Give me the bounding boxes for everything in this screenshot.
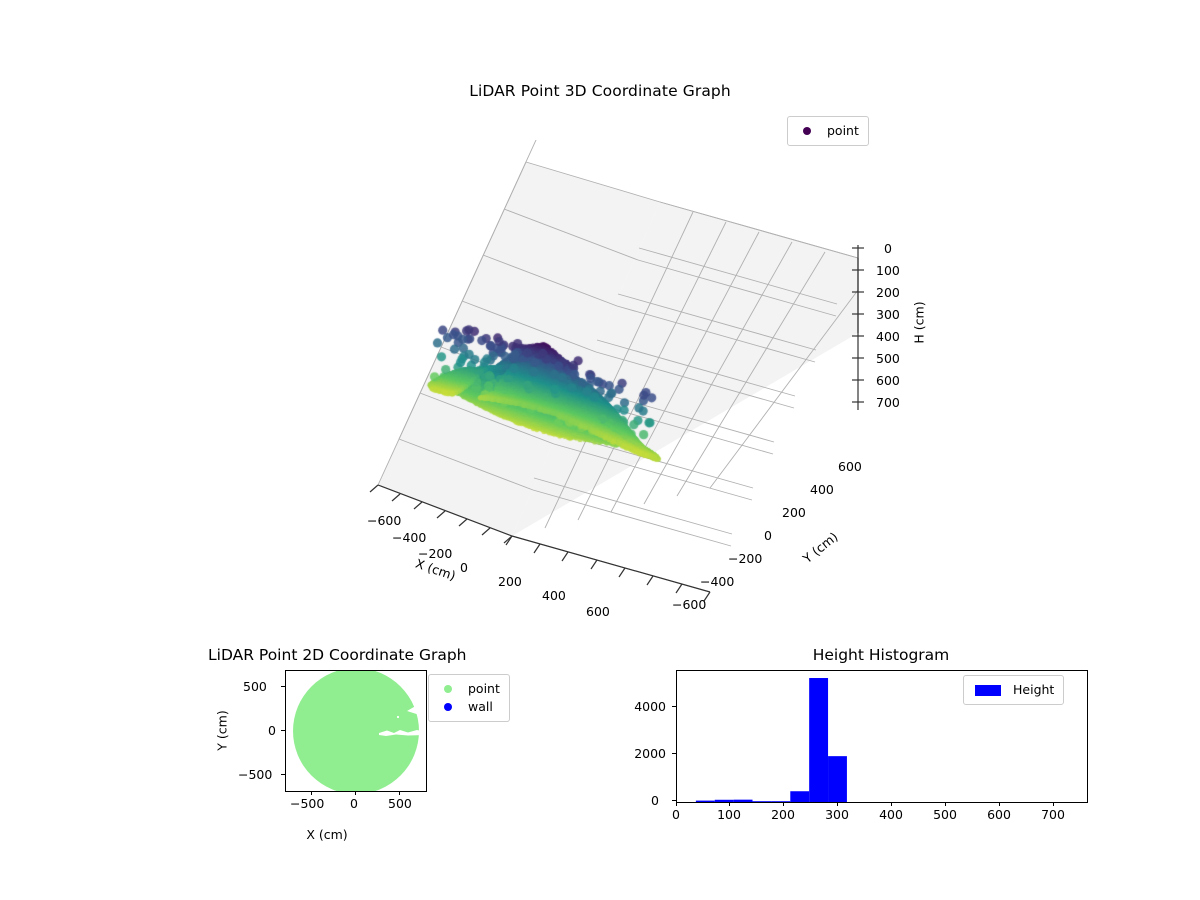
yh-tick-4000: 4000 bbox=[634, 699, 666, 714]
y2d-tick-0-mark bbox=[281, 730, 285, 731]
legend-item-point: point bbox=[797, 122, 859, 140]
x2d-tick-500-mark bbox=[399, 791, 400, 795]
z-tick-600: 600 bbox=[876, 373, 900, 388]
xh-tick-600: 600 bbox=[987, 807, 1011, 822]
z-tick-700: 700 bbox=[876, 395, 900, 410]
xh-tick-500: 500 bbox=[933, 807, 957, 822]
x2d-axis-label: X (cm) bbox=[306, 827, 347, 842]
x-tick-600: 600 bbox=[586, 604, 610, 619]
xh-tick-600-mark bbox=[999, 802, 1000, 806]
xh-tick-400: 400 bbox=[879, 807, 903, 822]
xh-tick-700-mark bbox=[1053, 802, 1054, 806]
yh-tick-0-mark bbox=[672, 800, 676, 801]
z-tick-500: 500 bbox=[876, 351, 900, 366]
legend-item-height: Height bbox=[973, 681, 1054, 699]
x2d-tick-m500: −500 bbox=[290, 796, 324, 811]
xh-tick-0: 0 bbox=[672, 807, 680, 822]
y2d-tick-m500-mark bbox=[281, 774, 285, 775]
x-tick-m600: −600 bbox=[367, 513, 401, 528]
x2d-tick-0: 0 bbox=[350, 796, 358, 811]
y2d-tick-0: 0 bbox=[268, 723, 276, 738]
y-tick-600: 600 bbox=[838, 459, 862, 474]
z-tick-200: 200 bbox=[876, 285, 900, 300]
z-tick-400: 400 bbox=[876, 329, 900, 344]
y-tick-200: 200 bbox=[782, 505, 806, 520]
point-marker-icon bbox=[444, 685, 452, 693]
y-tick-m200: −200 bbox=[728, 551, 762, 566]
wall-marker-icon bbox=[444, 703, 452, 711]
legend-label-point-2d: point bbox=[468, 680, 500, 698]
y2d-tick-500: 500 bbox=[243, 679, 267, 694]
xh-tick-100-mark bbox=[729, 802, 730, 806]
x-tick-m400: −400 bbox=[392, 530, 426, 545]
legend-2d: point wall bbox=[428, 674, 510, 722]
x2d-tick-0-mark bbox=[355, 791, 356, 795]
xh-tick-200-mark bbox=[783, 802, 784, 806]
lidar-2d-point-cloud bbox=[286, 671, 426, 791]
xh-tick-300-mark bbox=[837, 802, 838, 806]
x2d-tick-500: 500 bbox=[388, 796, 412, 811]
z-tick-300: 300 bbox=[876, 307, 900, 322]
y2d-tick-500-mark bbox=[281, 686, 285, 687]
height-patch-icon bbox=[975, 685, 1001, 696]
y-tick-0: 0 bbox=[764, 528, 772, 543]
y-tick-400: 400 bbox=[810, 482, 834, 497]
plot-2d-axes bbox=[285, 670, 427, 792]
legend-hist: Height bbox=[963, 675, 1064, 705]
legend-label-height: Height bbox=[1013, 681, 1054, 699]
x-tick-0: 0 bbox=[460, 560, 468, 575]
xh-tick-500-mark bbox=[945, 802, 946, 806]
y2d-axis-label: Y (cm) bbox=[215, 705, 230, 757]
matplotlib-figure: LiDAR Point 3D Coordinate Graph point bbox=[0, 0, 1200, 900]
legend-item-wall-2d: wall bbox=[438, 698, 500, 716]
yh-tick-0: 0 bbox=[651, 793, 659, 808]
z-tick-0: 0 bbox=[884, 241, 892, 256]
yh-tick-4000-mark bbox=[672, 706, 676, 707]
legend-label-wall-2d: wall bbox=[468, 698, 493, 716]
y-tick-m600: −600 bbox=[672, 597, 706, 612]
x-tick-400: 400 bbox=[542, 588, 566, 603]
x-tick-200: 200 bbox=[498, 574, 522, 589]
z-axis-label: H (cm) bbox=[912, 297, 927, 349]
yh-tick-2000-mark bbox=[672, 753, 676, 754]
legend-item-point-2d: point bbox=[438, 680, 500, 698]
xh-tick-300: 300 bbox=[825, 807, 849, 822]
panel-3d-title: LiDAR Point 3D Coordinate Graph bbox=[0, 82, 1200, 100]
y2d-tick-m500: −500 bbox=[238, 767, 272, 782]
panel-2d-title: LiDAR Point 2D Coordinate Graph bbox=[208, 646, 466, 664]
xh-tick-700: 700 bbox=[1041, 807, 1065, 822]
xh-tick-200: 200 bbox=[771, 807, 795, 822]
xh-tick-400-mark bbox=[891, 802, 892, 806]
x2d-tick-m500-mark bbox=[311, 791, 312, 795]
legend-label-point: point bbox=[827, 122, 859, 140]
yh-tick-2000: 2000 bbox=[634, 746, 666, 761]
xh-tick-0-mark bbox=[676, 802, 677, 806]
point-marker-icon bbox=[803, 127, 811, 135]
y-tick-m400: −400 bbox=[700, 574, 734, 589]
xh-tick-100: 100 bbox=[717, 807, 741, 822]
panel-hist-title: Height Histogram bbox=[813, 646, 950, 664]
z-tick-100: 100 bbox=[876, 263, 900, 278]
